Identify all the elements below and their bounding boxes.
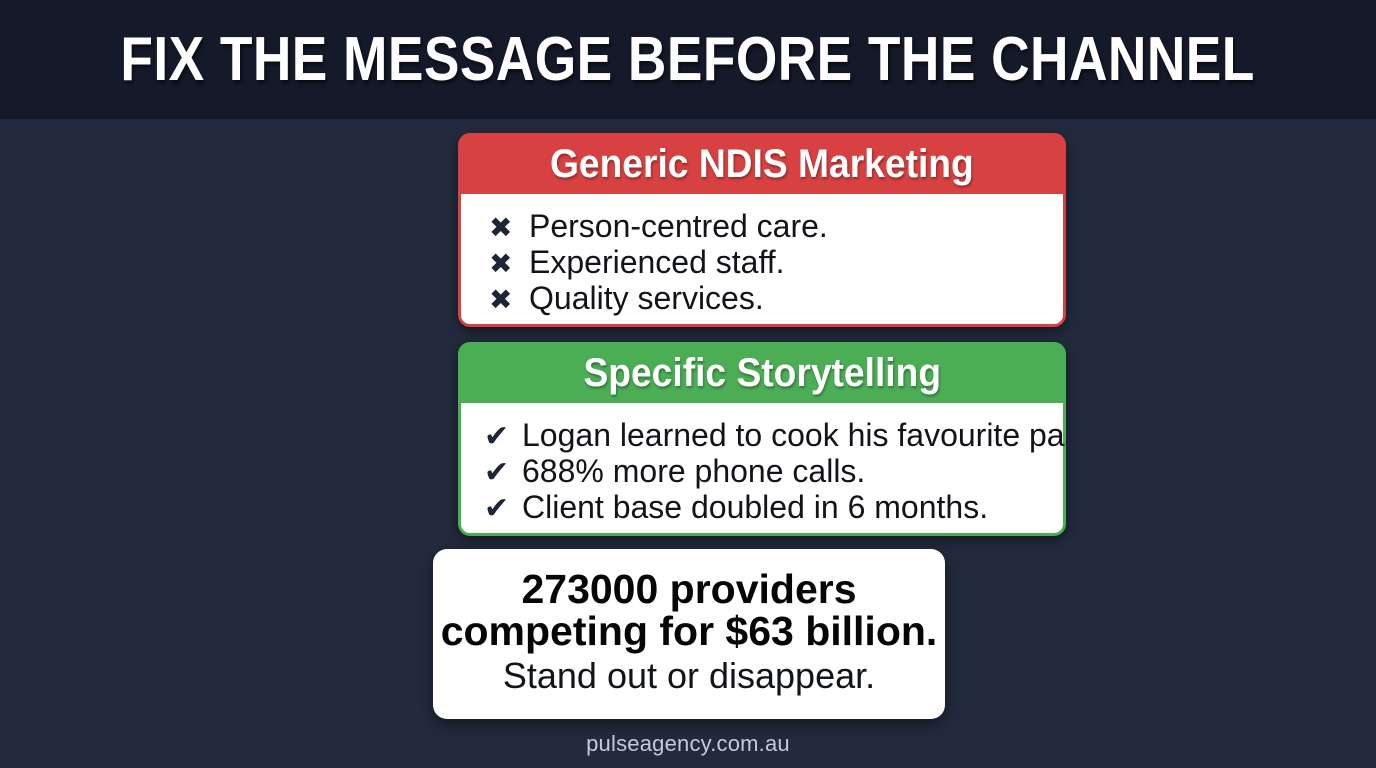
generic-point-list: ✖ Person-centred care. ✖ Experienced sta… — [461, 208, 1063, 316]
list-item-label: 688% more phone calls. — [522, 453, 865, 489]
list-item: ✖ Quality services. — [461, 280, 1063, 316]
card-specific-title: Specific Storytelling — [583, 353, 941, 393]
stat-card: 273000 providers competing for $63 billi… — [433, 549, 945, 719]
list-item: ✖ Person-centred care. — [461, 208, 1063, 244]
check-icon: ✔ — [484, 491, 522, 527]
page-title: FIX THE MESSAGE BEFORE THE CHANNEL — [121, 29, 1255, 91]
card-generic-body: ✖ Person-centred care. ✖ Experienced sta… — [458, 194, 1066, 327]
cross-icon: ✖ — [489, 282, 529, 318]
list-item-label: Quality services. — [529, 280, 764, 316]
check-icon: ✔ — [484, 455, 522, 491]
card-specific-body: ✔ Logan learned to cook his favourite pa… — [458, 403, 1066, 536]
list-item: ✔ Logan learned to cook his favourite pa… — [461, 417, 1063, 453]
header-band: FIX THE MESSAGE BEFORE THE CHANNEL — [0, 0, 1376, 119]
card-generic-header: Generic NDIS Marketing — [458, 133, 1066, 194]
stat-subline: Stand out or disappear. — [503, 652, 875, 700]
card-specific-header: Specific Storytelling — [458, 342, 1066, 403]
body-area: Generic NDIS Marketing ✖ Person-centred … — [0, 119, 1376, 768]
check-icon: ✔ — [484, 419, 522, 455]
list-item-label: Client base doubled in 6 months. — [522, 489, 988, 525]
list-item-label: Person-centred care. — [529, 208, 828, 244]
card-generic-title: Generic NDIS Marketing — [550, 144, 974, 184]
list-item: ✔ 688% more phone calls. — [461, 453, 1063, 489]
footer: pulseagency.com.au — [0, 731, 1376, 757]
stat-headline-line-1: 273000 providers — [521, 568, 856, 610]
cross-icon: ✖ — [489, 246, 529, 282]
footer-website: pulseagency.com.au — [586, 731, 790, 756]
list-item: ✔ Client base doubled in 6 months. — [461, 489, 1063, 525]
poster-root: FIX THE MESSAGE BEFORE THE CHANNEL Gener… — [0, 0, 1376, 768]
cross-icon: ✖ — [489, 210, 529, 246]
card-specific-storytelling: Specific Storytelling ✔ Logan learned to… — [458, 342, 1066, 536]
specific-point-list: ✔ Logan learned to cook his favourite pa… — [461, 417, 1063, 525]
card-generic-marketing: Generic NDIS Marketing ✖ Person-centred … — [458, 133, 1066, 327]
list-item-label: Logan learned to cook his favourite past… — [522, 417, 1066, 453]
list-item-label: Experienced staff. — [529, 244, 785, 280]
list-item: ✖ Experienced staff. — [461, 244, 1063, 280]
stat-headline-line-2: competing for $63 billion. — [441, 610, 938, 652]
